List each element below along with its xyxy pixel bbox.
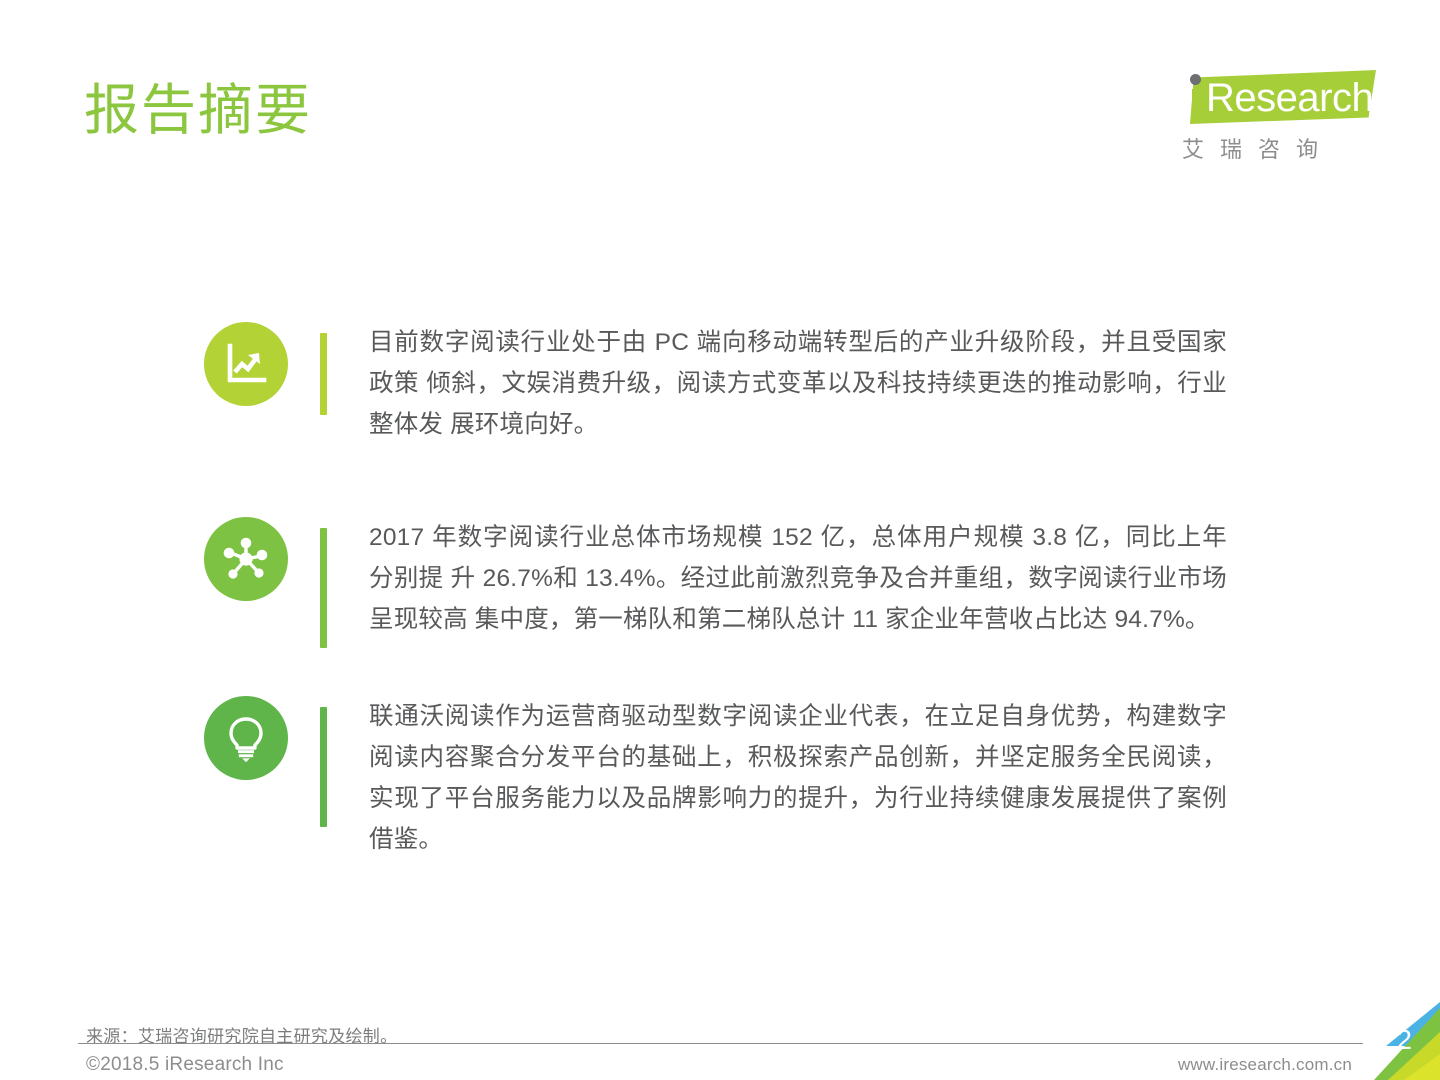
- bullet-text: 联通沃阅读作为运营商驱动型数字阅读企业代表，在立足自身优势，构建数字阅读内容聚合…: [369, 696, 1227, 860]
- iresearch-logo: Research 艾瑞咨询: [1168, 68, 1378, 173]
- list-item: 2017 年数字阅读行业总体市场规模 152 亿，总体用户规模 3.8 亿，同比…: [0, 517, 1440, 648]
- list-item: 目前数字阅读行业处于由 PC 端向移动端转型后的产业升级阶段，并且受国家政策 倾…: [0, 322, 1440, 445]
- bullet-text: 目前数字阅读行业处于由 PC 端向移动端转型后的产业升级阶段，并且受国家政策 倾…: [369, 322, 1227, 445]
- bullet-divider: [320, 707, 327, 827]
- logo-wordmark: Research: [1206, 76, 1373, 120]
- bullet-divider: [320, 528, 327, 648]
- network-hub-icon: [204, 517, 288, 601]
- summary-bullet-list: 目前数字阅读行业处于由 PC 端向移动端转型后的产业升级阶段，并且受国家政策 倾…: [0, 322, 1440, 918]
- logo-mark: Research: [1168, 68, 1378, 130]
- logo-i-stem-icon: [1192, 89, 1200, 122]
- bullet-divider: [320, 333, 327, 415]
- page-title: 报告摘要: [84, 75, 312, 145]
- lightbulb-icon: [204, 696, 288, 780]
- page-header: 报告摘要 Research 艾瑞咨询: [0, 0, 1440, 200]
- website-url: www.iresearch.com.cn: [1178, 1055, 1352, 1075]
- logo-i-dot-icon: [1190, 74, 1201, 85]
- list-item: 联通沃阅读作为运营商驱动型数字阅读企业代表，在立足自身优势，构建数字阅读内容聚合…: [0, 696, 1440, 860]
- logo-chinese-name: 艾瑞咨询: [1182, 136, 1334, 164]
- growth-chart-icon: [204, 322, 288, 406]
- page-number: 2: [1396, 1026, 1412, 1054]
- copyright-text: ©2018.5 iResearch Inc: [86, 1054, 284, 1076]
- bullet-text: 2017 年数字阅读行业总体市场规模 152 亿，总体用户规模 3.8 亿，同比…: [369, 517, 1227, 640]
- corner-decoration: [1348, 1002, 1440, 1080]
- footer-divider: [78, 1043, 1363, 1044]
